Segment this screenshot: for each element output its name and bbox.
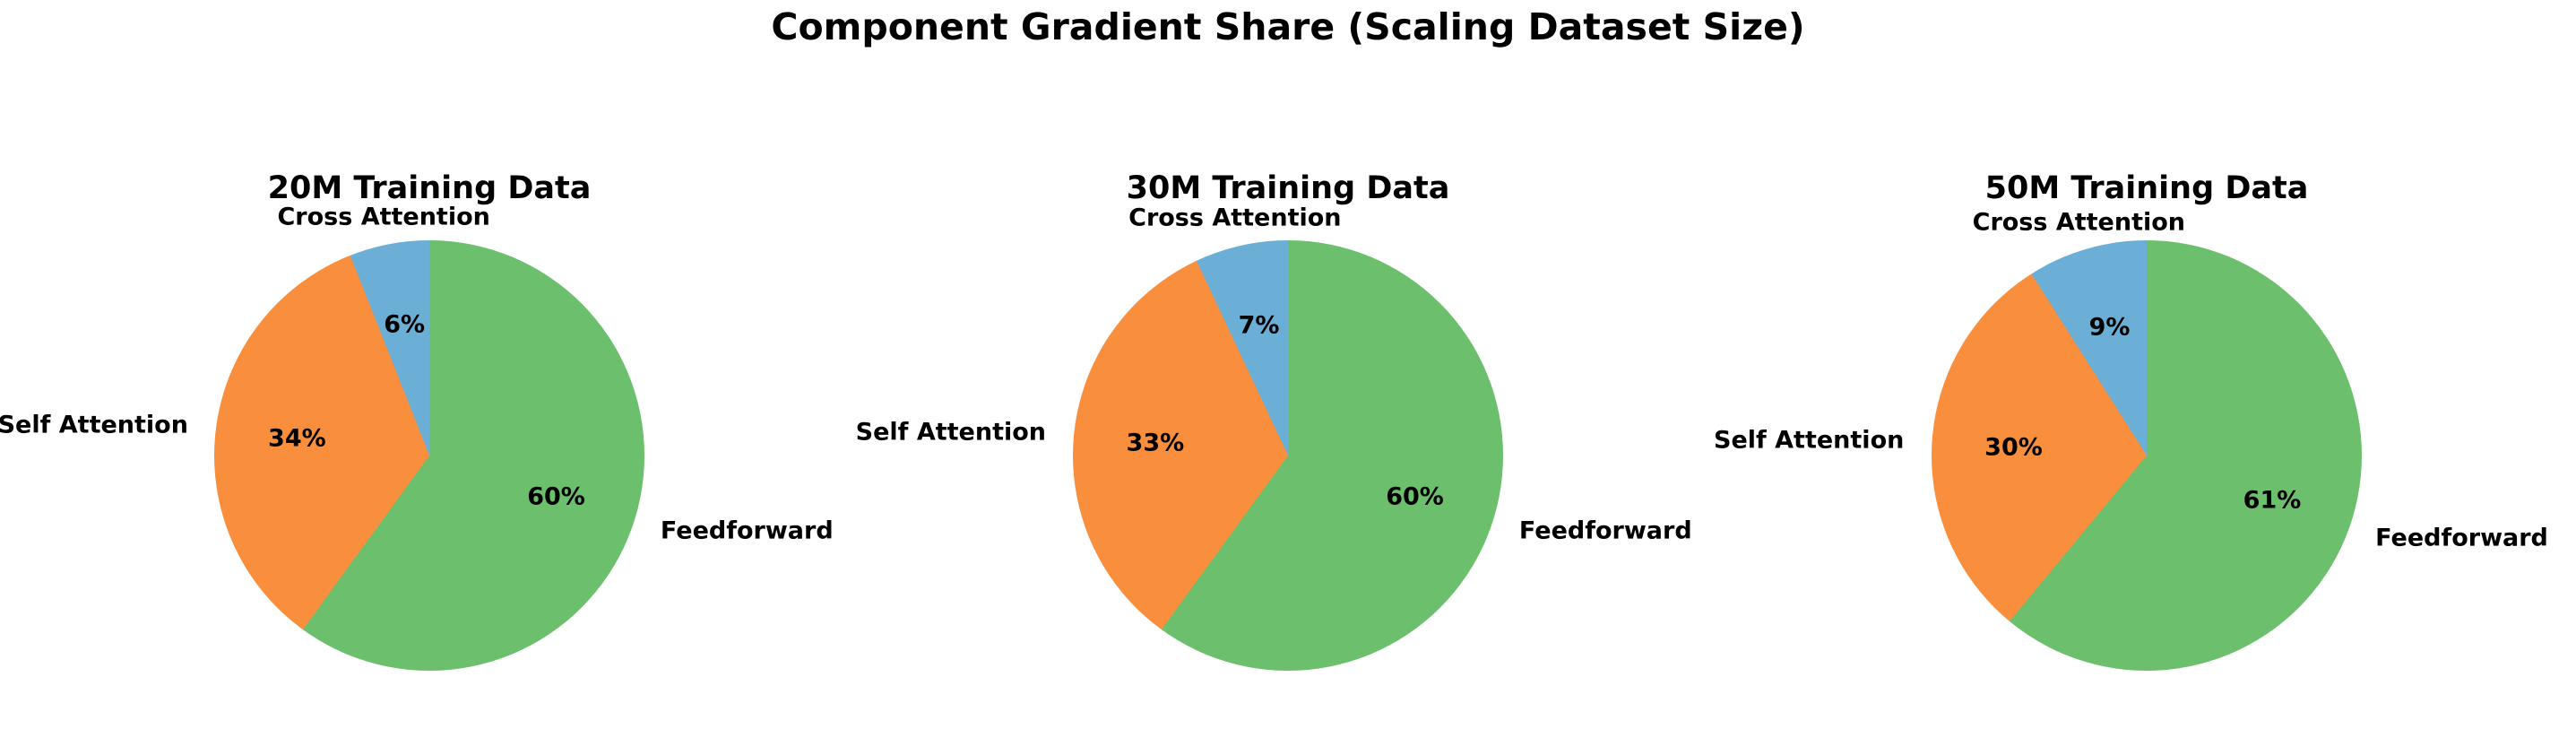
pct-feedforward-50m: 61% xyxy=(2243,487,2302,515)
figure-canvas: Component Gradient Share (Scaling Datase… xyxy=(0,0,2576,729)
pct-feedforward-20m: 60% xyxy=(527,482,585,510)
pie-disc-20m[interactable] xyxy=(214,240,644,671)
pie-panel-50m: 50M Training Data 61% 30% 9% Feedforward… xyxy=(1717,152,2576,729)
label-feedforward-20m: Feedforward xyxy=(661,516,834,544)
pie-chart-20m: 60% 34% 6% Feedforward Self Attention Cr… xyxy=(214,240,644,671)
label-self-attention-50m: Self Attention xyxy=(1714,426,1904,454)
pct-self-attention-50m: 30% xyxy=(1984,433,2043,461)
pct-cross-attention-20m: 6% xyxy=(384,310,425,338)
pie-chart-30m: 60% 33% 7% Feedforward Self Attention Cr… xyxy=(1073,240,1503,671)
pie-chart-50m: 61% 30% 9% Feedforward Self Attention Cr… xyxy=(1932,240,2362,671)
pie-panel-20m: 20M Training Data 60% 34% 6% Feedforward… xyxy=(0,152,859,729)
label-cross-attention-50m: Cross Attention xyxy=(1973,208,2185,236)
label-self-attention-30m: Self Attention xyxy=(856,419,1046,447)
pie-panel-30m: 30M Training Data 60% 33% 7% Feedforward… xyxy=(859,152,1717,729)
panel-title-50m: 50M Training Data xyxy=(1717,170,2576,206)
label-cross-attention-30m: Cross Attention xyxy=(1128,204,1341,232)
pct-self-attention-30m: 33% xyxy=(1127,429,1185,456)
panel-title-20m: 20M Training Data xyxy=(0,170,859,206)
label-feedforward-50m: Feedforward xyxy=(2375,524,2548,551)
label-self-attention-20m: Self Attention xyxy=(0,412,188,439)
panel-title-30m: 30M Training Data xyxy=(859,170,1717,206)
label-feedforward-30m: Feedforward xyxy=(1519,516,1692,544)
label-cross-attention-20m: Cross Attention xyxy=(277,203,489,230)
pct-feedforward-30m: 60% xyxy=(1386,482,1444,510)
pct-cross-attention-30m: 7% xyxy=(1239,311,1280,339)
pct-self-attention-20m: 34% xyxy=(268,425,326,453)
pct-cross-attention-50m: 9% xyxy=(2089,314,2131,342)
figure-title: Component Gradient Share (Scaling Datase… xyxy=(0,5,2576,48)
